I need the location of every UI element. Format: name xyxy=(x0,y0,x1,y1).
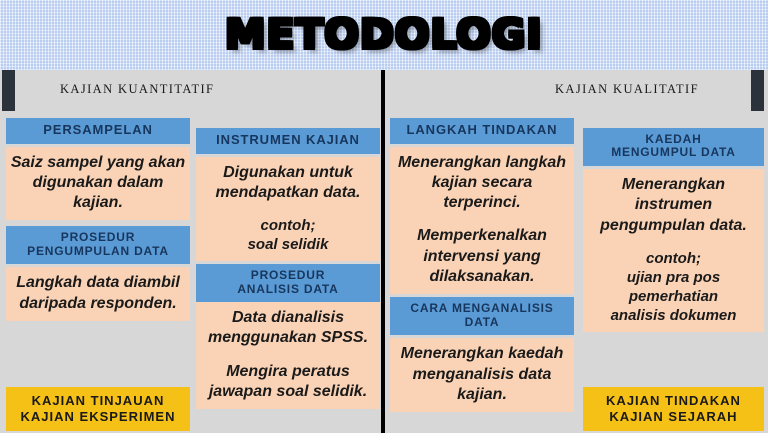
header-line-1: CARA MENGANALISIS xyxy=(393,302,571,315)
bookend-mark-left xyxy=(2,70,15,111)
body-langkah-terperinci: Menerangkan langkah kajian secara terper… xyxy=(390,147,574,221)
header-persampelan[interactable]: PERSAMPELAN xyxy=(6,118,190,144)
header-line-1: PROSEDUR xyxy=(9,231,187,244)
header-cara-menganalisis-data[interactable]: CARA MENGANALISIS DATA xyxy=(390,297,574,335)
body-instrumen-description: Digunakan untuk mendapatkan data. xyxy=(196,157,380,211)
column-langkah-tindakan: LANGKAH TINDAKAN Menerangkan langkah kaj… xyxy=(390,118,574,412)
header-line-1: PROSEDUR xyxy=(199,269,377,282)
body-kaedah-description: Menerangkan instrumen pengumpulan data. xyxy=(583,169,764,243)
column-persampelan: PERSAMPELAN Saiz sampel yang akan diguna… xyxy=(6,118,190,321)
body-persampelan-description: Saiz sampel yang akan digunakan dalam ka… xyxy=(6,147,190,221)
header-langkah-tindakan[interactable]: LANGKAH TINDAKAN xyxy=(390,118,574,144)
contoh-item-1: ujian pra pos xyxy=(587,268,760,287)
header-line-2: ANALISIS DATA xyxy=(199,283,377,296)
header-kaedah-mengumpul-data[interactable]: KAEDAH MENGUMPUL DATA xyxy=(583,128,764,166)
content-area: KAJIAN KUANTITATIF KAJIAN KUALITATIF PER… xyxy=(0,70,768,433)
header-prosedur-pengumpulan-data[interactable]: PROSEDUR PENGUMPULAN DATA xyxy=(6,226,190,264)
slide-canvas: METODOLOGI KAJIAN KUANTITATIF KAJIAN KUA… xyxy=(0,0,768,433)
body-cara-menganalisis-description: Menerangkan kaedah menganalisis data kaj… xyxy=(390,338,574,412)
header-instrumen-kajian[interactable]: INSTRUMEN KAJIAN xyxy=(196,128,380,154)
header-line-2: MENGUMPUL DATA xyxy=(586,146,761,159)
body-instrumen-contoh: contoh; soal selidik xyxy=(196,210,380,261)
footer-line-1: KAJIAN TINDAKAN xyxy=(586,393,761,409)
body-kaedah-contoh: contoh; ujian pra pos pemerhatian analis… xyxy=(583,243,764,332)
contoh-item-3: analisis dokumen xyxy=(587,306,760,325)
page-title: METODOLOGI xyxy=(225,15,543,55)
footer-line-1: KAJIAN TINJAUAN xyxy=(9,393,187,409)
contoh-label: contoh; xyxy=(587,249,760,268)
footer-line-2: KAJIAN SEJARAH xyxy=(586,409,761,425)
title-banner: METODOLOGI xyxy=(0,0,768,70)
body-analisis-spss: Data dianalisis menggunakan SPSS. xyxy=(196,302,380,356)
contoh-item-2: pemerhatian xyxy=(587,287,760,306)
body-langkah-intervensi: Memperkenalkan intervensi yang dilaksana… xyxy=(390,220,574,294)
body-analisis-peratus: Mengira peratus jawapan soal selidik. xyxy=(196,356,380,410)
section-heading-quantitative: KAJIAN KUANTITATIF xyxy=(60,82,214,97)
header-prosedur-analisis-data[interactable]: PROSEDUR ANALISIS DATA xyxy=(196,264,380,302)
header-line-1: KAEDAH xyxy=(586,133,761,146)
contoh-label: contoh; xyxy=(200,216,376,235)
contoh-item-1: soal selidik xyxy=(200,235,376,254)
body-prosedur-pengumpulan-description: Langkah data diambil daripada responden. xyxy=(6,267,190,321)
footer-line-2: KAJIAN EKSPERIMEN xyxy=(9,409,187,425)
column-kaedah-mengumpul-data: KAEDAH MENGUMPUL DATA Menerangkan instru… xyxy=(583,128,764,332)
section-heading-qualitative: KAJIAN KUALITATIF xyxy=(555,82,699,97)
header-line-2: DATA xyxy=(393,316,571,329)
bookend-mark-right xyxy=(751,70,764,111)
column-instrumen-kajian: INSTRUMEN KAJIAN Digunakan untuk mendapa… xyxy=(196,128,380,409)
footer-kajian-tinjauan[interactable]: KAJIAN TINJAUAN KAJIAN EKSPERIMEN xyxy=(6,387,190,431)
center-divider xyxy=(381,70,385,433)
header-line-2: PENGUMPULAN DATA xyxy=(9,245,187,258)
footer-kajian-tindakan[interactable]: KAJIAN TINDAKAN KAJIAN SEJARAH xyxy=(583,387,764,431)
